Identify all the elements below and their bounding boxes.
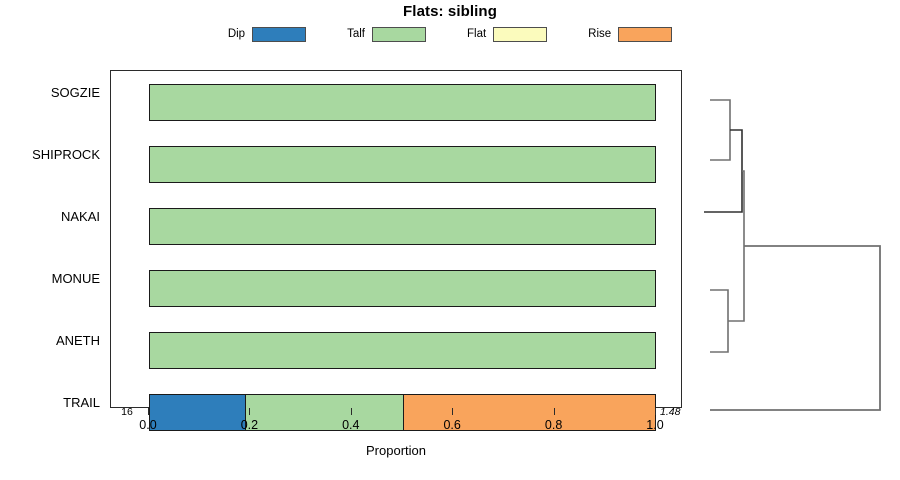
x-axis-title: Proportion xyxy=(0,443,792,458)
y-axis-label: SOGZIE xyxy=(4,85,100,100)
legend: Dip Talf Flat Rise xyxy=(0,25,900,43)
plot-area xyxy=(110,70,682,408)
dendro-merge-upper-nakai xyxy=(704,130,742,212)
dendro-merge-monue-aneth xyxy=(710,290,728,352)
legend-swatch-flat xyxy=(493,27,547,42)
legend-label-flat: Flat xyxy=(467,28,486,40)
bar-segment-talf[interactable] xyxy=(150,209,655,244)
x-axis-tick-label: 0.8 xyxy=(534,418,574,432)
legend-item-rise: Rise xyxy=(588,27,672,42)
legend-label-talf: Talf xyxy=(347,28,365,40)
y-axis-label: ANETH xyxy=(4,333,100,348)
x-axis-tick xyxy=(452,408,453,415)
dendrogram xyxy=(682,60,900,420)
y-axis-label: NAKAI xyxy=(4,209,100,224)
chart-title: Flats: sibling xyxy=(0,3,900,20)
dendro-root-merge xyxy=(710,246,880,410)
legend-label-rise: Rise xyxy=(588,28,611,40)
legend-item-talf: Talf xyxy=(347,27,426,42)
legend-swatch-talf xyxy=(372,27,426,42)
stacked-bar[interactable] xyxy=(149,146,656,183)
legend-swatch-rise xyxy=(618,27,672,42)
stacked-bar[interactable] xyxy=(149,332,656,369)
x-axis-tick xyxy=(554,408,555,415)
x-axis-tick xyxy=(249,408,250,415)
y-axis-label: MONUE xyxy=(4,271,100,286)
legend-label-dip: Dip xyxy=(228,28,245,40)
bar-segment-talf[interactable] xyxy=(150,85,655,120)
stacked-bar[interactable] xyxy=(149,394,656,431)
dendro-merge-sogzie-shiprock xyxy=(710,100,730,160)
y-axis-label: SHIPROCK xyxy=(4,147,100,162)
x-axis-tick-label: 0.4 xyxy=(331,418,371,432)
stacked-bar[interactable] xyxy=(149,208,656,245)
x-axis-tick-label: 0.0 xyxy=(128,418,168,432)
x-axis-tick-label: 0.6 xyxy=(432,418,472,432)
x-axis-tick xyxy=(351,408,352,415)
x-axis-tick-label: 1.0 xyxy=(635,418,675,432)
bar-segment-talf[interactable] xyxy=(150,333,655,368)
legend-item-flat: Flat xyxy=(467,27,547,42)
x-axis-tick-label: 0.2 xyxy=(229,418,269,432)
stacked-bar[interactable] xyxy=(149,84,656,121)
y-axis-label: TRAIL xyxy=(4,395,100,410)
stacked-bar[interactable] xyxy=(149,270,656,307)
legend-item-dip: Dip xyxy=(228,27,306,42)
bar-segment-talf[interactable] xyxy=(150,271,655,306)
legend-swatch-dip xyxy=(252,27,306,42)
x-axis-tick xyxy=(655,408,656,415)
x-axis-tick xyxy=(148,408,149,415)
bar-segment-talf[interactable] xyxy=(150,147,655,182)
dendrogram-svg xyxy=(682,60,900,420)
